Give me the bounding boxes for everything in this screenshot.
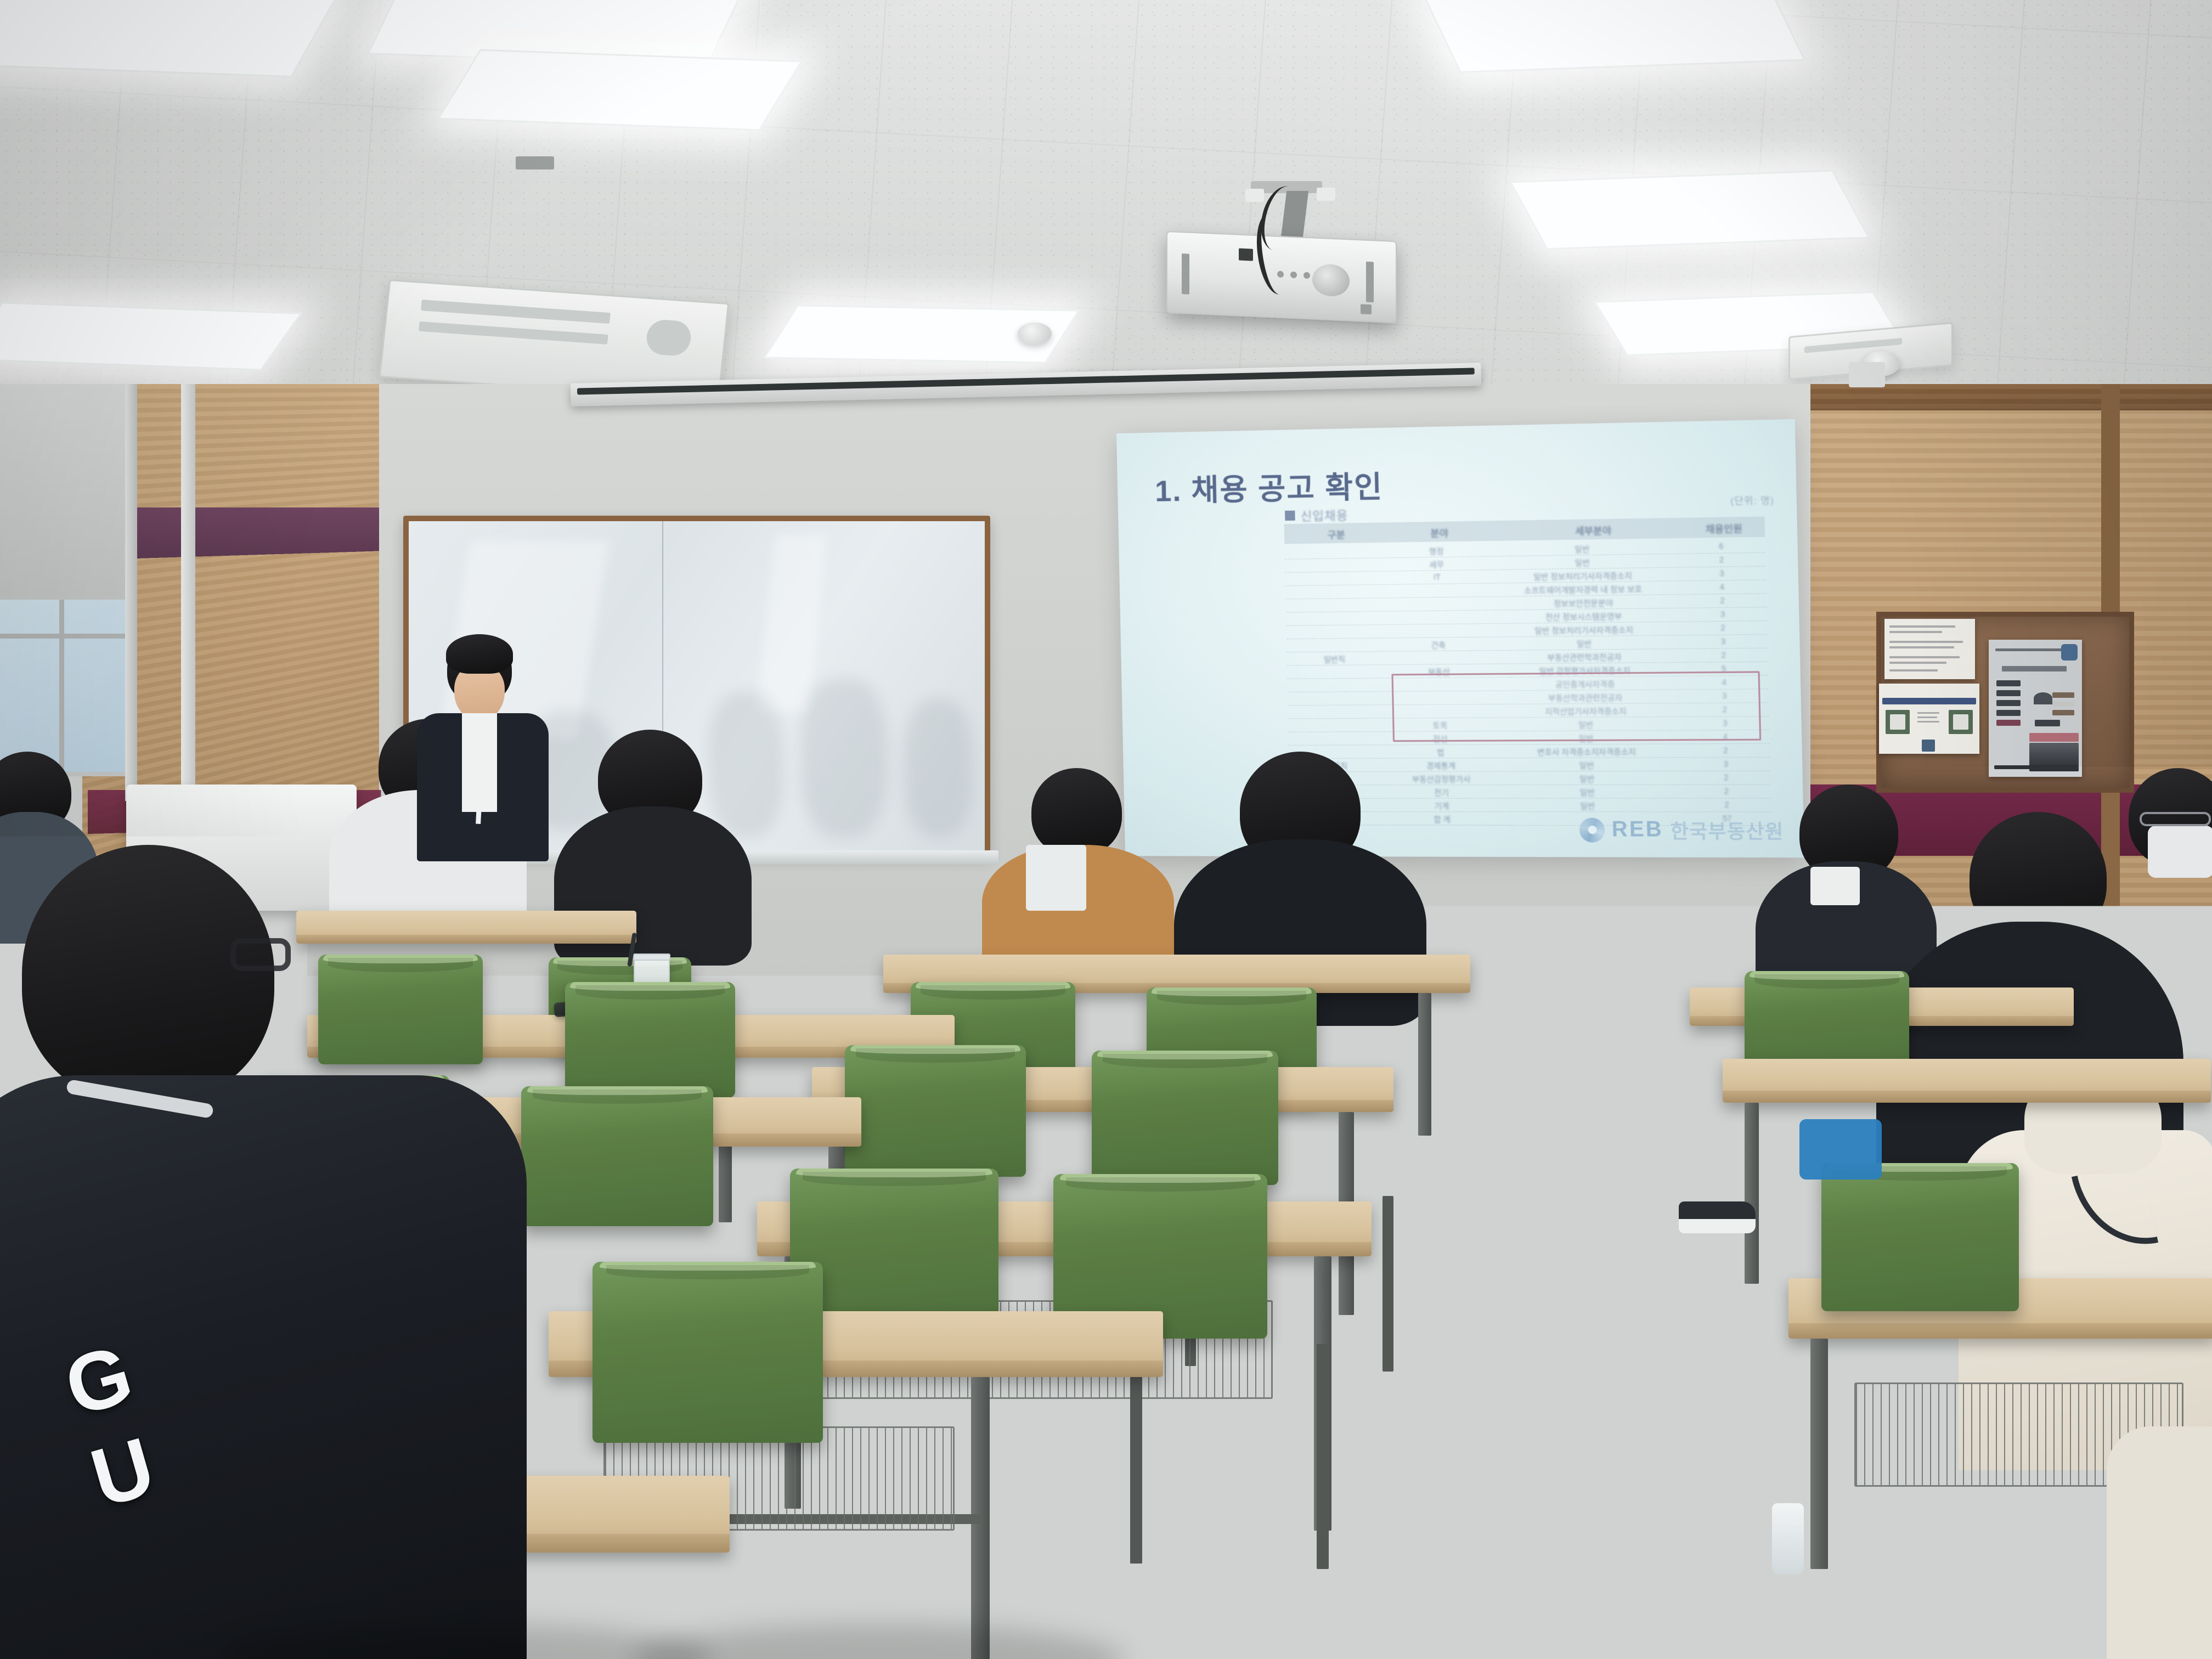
table-cell: 2 <box>1695 800 1759 810</box>
table-cell: 건축 <box>1393 639 1484 651</box>
desk <box>296 911 636 944</box>
slide-title: 1. 채용 공고 확인 <box>1154 462 1384 510</box>
projector-mount-clip <box>1317 188 1335 201</box>
ceiling-light-panel <box>1510 170 1870 250</box>
table-cell: 일반직 <box>1293 653 1377 665</box>
highlight-box <box>1391 671 1761 742</box>
table-cell: 행정 <box>1391 545 1482 557</box>
desk-leg <box>1418 993 1431 1136</box>
slide-subtitle-bullet-icon <box>1285 511 1295 521</box>
smoke-detector-icon <box>1018 323 1052 345</box>
water-bottle <box>1772 1503 1804 1575</box>
audience-shirt-collar <box>1810 867 1860 905</box>
chair <box>521 1086 713 1226</box>
chair-leg <box>1317 1344 1329 1569</box>
table-cell: 4 <box>1690 582 1754 592</box>
table-cell: 일반 정보처리기사자격증소지 <box>1488 569 1678 583</box>
table-cell: 일반 <box>1493 800 1683 812</box>
glasses-icon <box>2140 812 2211 826</box>
desk-leg <box>1745 1103 1759 1284</box>
event-poster <box>1989 640 2082 777</box>
table-cell: 일반 <box>1489 637 1680 650</box>
window-vertical-post <box>181 384 195 817</box>
table-cell: 소프트웨어개발자경력 내 정보 보호 <box>1488 583 1679 596</box>
reb-logo: REB 한국부동산원 <box>1579 816 1784 844</box>
backpack <box>1799 1119 1882 1180</box>
ceiling-light-panel <box>0 302 302 370</box>
qr-poster <box>1879 684 1979 754</box>
table-cell: 2 <box>1691 650 1756 660</box>
sprinkler-icon <box>516 156 554 170</box>
window-blind <box>0 384 132 598</box>
table-cell: 3 <box>1690 609 1755 619</box>
chair <box>565 982 735 1097</box>
table-cell: 2 <box>1694 787 1759 796</box>
slide-subtitle: 신입채용 <box>1300 506 1348 524</box>
table-cell: 2 <box>1694 746 1758 755</box>
notice-board <box>1876 612 2134 793</box>
reb-symbol-icon <box>1579 817 1605 842</box>
table-cell: IT <box>1392 572 1483 582</box>
table-header-cell: 구분 <box>1294 527 1379 542</box>
table-cell: 3 <box>1691 636 1756 646</box>
slide-table: 구분 분야 세부분야 채용인원 행정일반6세무일반2IT일반 정보처리기사자격증… <box>1284 516 1772 834</box>
table-cell: 세무 <box>1391 558 1482 571</box>
notice-poster <box>1884 619 1975 679</box>
audience-shirt-collar <box>1026 845 1086 911</box>
window-frame <box>0 595 132 776</box>
table-cell: 합 계 <box>1397 814 1488 825</box>
chair <box>1092 1051 1278 1185</box>
classroom-photo: 1. 채용 공고 확인 신입채용 (단위: 명) 구분 분야 세부분야 채용인원… <box>0 0 2212 1659</box>
chair <box>318 955 483 1064</box>
face-mask-icon <box>2148 826 2212 878</box>
projection-screen: 1. 채용 공고 확인 신입채용 (단위: 명) 구분 분야 세부분야 채용인원… <box>1116 419 1804 857</box>
desk-leg <box>1810 1339 1828 1569</box>
table-cell: 전산 정보시스템운영부 <box>1489 610 1679 623</box>
reb-korean-name: 한국부동산원 <box>1670 816 1784 844</box>
table-cell: 3 <box>1694 759 1758 769</box>
emergency-light-icon <box>1849 362 1885 387</box>
reb-abbr: REB <box>1611 818 1663 842</box>
foreground-student-head <box>22 845 274 1103</box>
chair <box>1821 1163 2019 1311</box>
ceiling-light-panel <box>1420 0 1806 73</box>
table-header-cell: 채용인원 <box>1689 521 1759 536</box>
table-cell: 2 <box>1694 773 1759 782</box>
table-cell: 일반 정보처리기사자격증소지 <box>1489 624 1679 637</box>
ceiling-light-panel <box>0 0 338 77</box>
shoe <box>1679 1201 1756 1233</box>
projector-mount-clip <box>1245 189 1264 202</box>
table-cell: 전기 <box>1396 787 1487 798</box>
table-cell: 법 <box>1395 747 1486 758</box>
table-cell: 6 <box>1689 541 1754 551</box>
window-vertical-post <box>125 384 137 801</box>
table-header-cell: 세부분야 <box>1510 522 1677 538</box>
table-cell: 3 <box>1690 568 1754 578</box>
table-cell: 2 <box>1691 623 1756 633</box>
presenter-hair <box>446 634 513 674</box>
table-cell: 변호사 자격증소지자격증소지 <box>1492 746 1682 758</box>
table-cell: 부동산관련학과전공자 <box>1489 651 1680 663</box>
chair <box>845 1045 1026 1177</box>
table-cell: 2 <box>1690 596 1755 606</box>
table-cell: 경제통계 <box>1396 760 1487 771</box>
chair <box>592 1262 823 1443</box>
table-cell: 일반 <box>1493 787 1683 798</box>
table-cell: 일반 <box>1492 759 1683 771</box>
projector-assembly <box>1152 181 1410 324</box>
audience-head <box>1031 768 1122 856</box>
audience-body <box>2107 1426 2212 1659</box>
glasses-icon <box>230 938 291 971</box>
chair-leg <box>1383 1196 1393 1372</box>
desk <box>1723 1059 2211 1103</box>
table-cell: 기계 <box>1396 800 1487 811</box>
wall-trim <box>1810 384 2212 410</box>
table-header-cell: 분야 <box>1394 525 1485 540</box>
table-cell: 부동산감정평가사 <box>1396 774 1487 785</box>
table-cell: 정보보안전문분야 <box>1488 596 1679 610</box>
table-cell: 2 <box>1689 555 1754 565</box>
slide-corner-note: (단위: 명) <box>1730 493 1774 507</box>
table-cell: 일반 <box>1492 773 1683 785</box>
ceiling-light-panel <box>437 49 803 131</box>
